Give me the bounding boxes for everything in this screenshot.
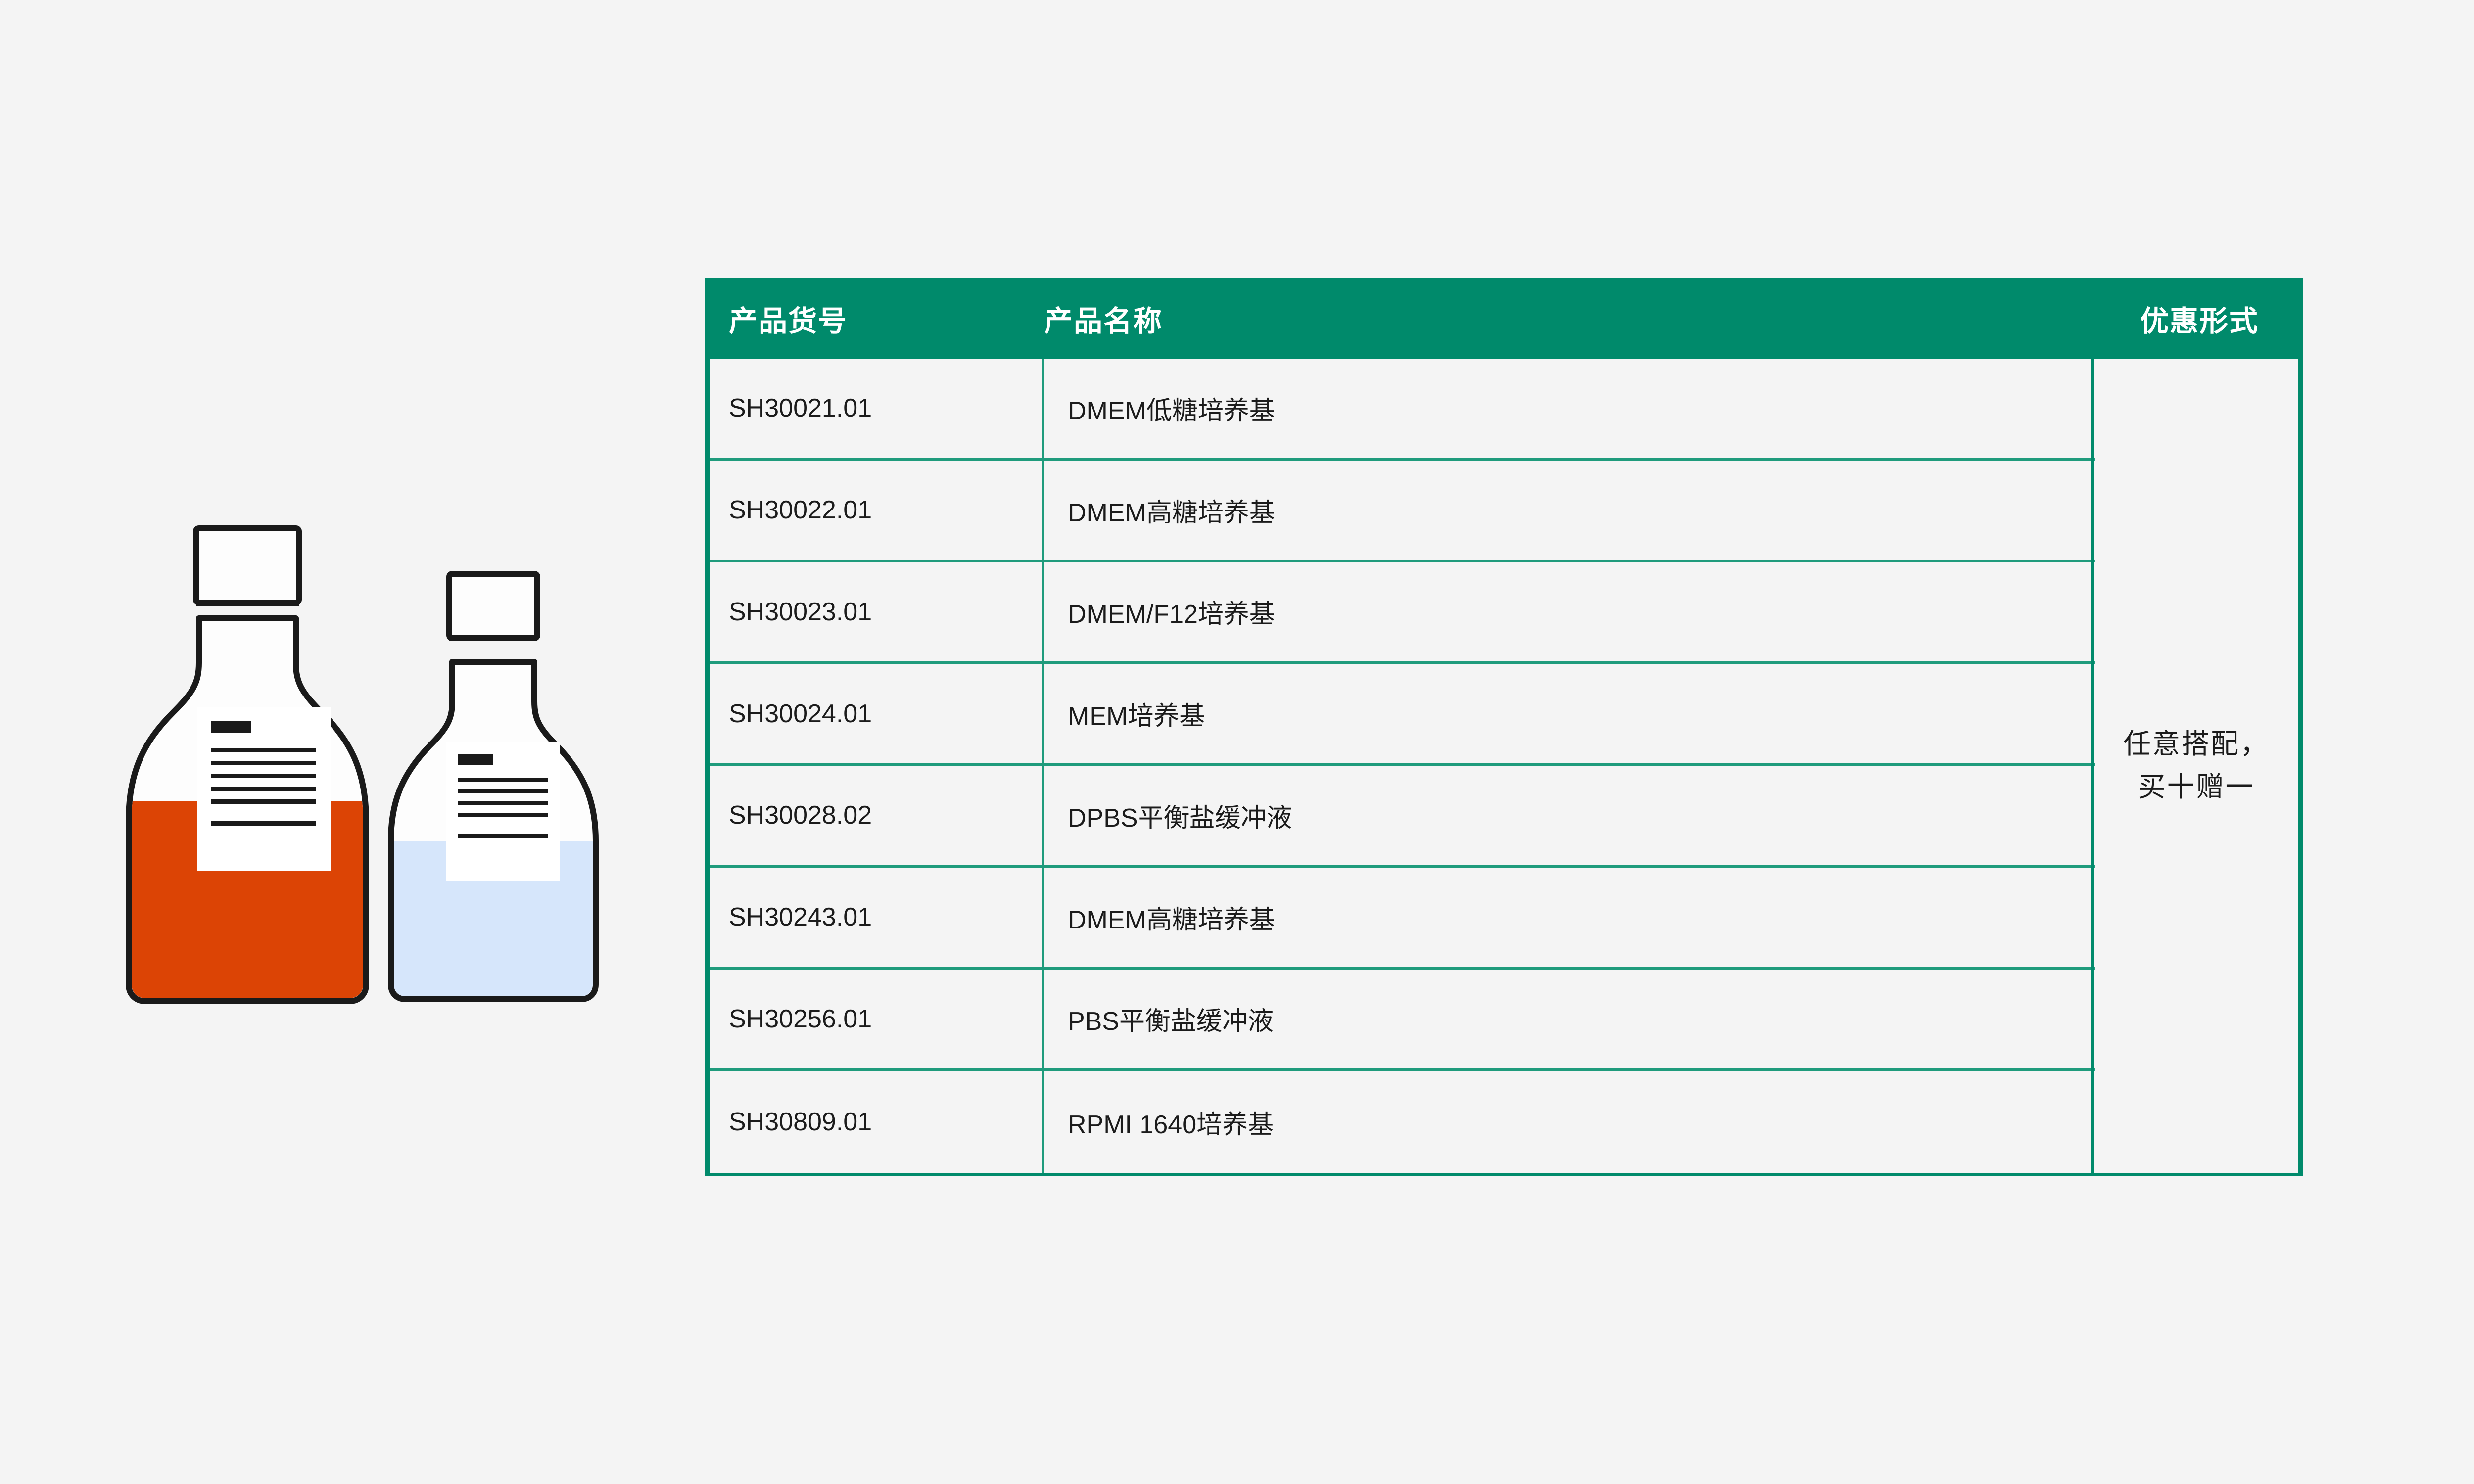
small-bottle-label-title-bar: [458, 754, 493, 765]
promotion-table: 产品货号 产品名称 优惠形式 SH30021.01 DMEM低糖培养基 SH30…: [705, 278, 2303, 1176]
bottles-svg: [114, 495, 618, 1019]
table-row: SH30809.01 RPMI 1640培养基: [710, 1071, 2095, 1173]
promo-line-2: 买十赠一: [2138, 766, 2255, 809]
large-bottle-cap: [196, 528, 299, 603]
column-header-product-name: 产品名称: [1044, 298, 2095, 339]
small-bottle: [389, 574, 599, 1009]
cell-product-code: SH30024.01: [710, 664, 1044, 763]
column-header-promo-type: 优惠形式: [2095, 298, 2303, 339]
promo-merged-cell: 任意搭配， 买十赠一: [2091, 359, 2298, 1173]
cell-product-code: SH30256.01: [710, 970, 1044, 1069]
cell-product-name: PBS平衡盐缓冲液: [1044, 970, 2095, 1069]
cell-product-name: DMEM低糖培养基: [1044, 359, 2095, 458]
page-canvas: 产品货号 产品名称 优惠形式 SH30021.01 DMEM低糖培养基 SH30…: [0, 0, 2474, 1484]
cell-product-name: MEM培养基: [1044, 664, 2095, 763]
cell-product-code: SH30022.01: [710, 461, 1044, 560]
promo-line-1: 任意搭配，: [2123, 723, 2269, 766]
column-header-product-code: 产品货号: [729, 298, 1044, 339]
table-row: SH30022.01 DMEM高糖培养基: [710, 461, 2095, 562]
table-row: SH30023.01 DMEM/F12培养基: [710, 562, 2095, 664]
culture-media-bottles-illustration: [114, 495, 618, 1019]
cell-product-code: SH30021.01: [710, 359, 1044, 458]
cell-product-name: DMEM高糖培养基: [1044, 868, 2095, 967]
table-row: SH30028.02 DPBS平衡盐缓冲液: [710, 766, 2095, 868]
table-header-row: 产品货号 产品名称 优惠形式: [705, 278, 2303, 359]
table-row: SH30243.01 DMEM高糖培养基: [710, 868, 2095, 970]
large-bottle-cap-band: [196, 600, 299, 606]
cell-product-name: DMEM高糖培养基: [1044, 461, 2095, 560]
table-row: SH30256.01 PBS平衡盐缓冲液: [710, 970, 2095, 1071]
cell-product-name: RPMI 1640培养基: [1044, 1071, 2095, 1173]
cell-product-code: SH30023.01: [710, 562, 1044, 662]
product-grid: SH30021.01 DMEM低糖培养基 SH30022.01 DMEM高糖培养…: [710, 359, 2095, 1173]
table-row: SH30024.01 MEM培养基: [710, 664, 2095, 766]
small-bottle-cap-band: [449, 635, 537, 641]
large-bottle: [129, 528, 371, 1009]
table-body: SH30021.01 DMEM低糖培养基 SH30022.01 DMEM高糖培养…: [705, 359, 2303, 1176]
small-bottle-cap: [449, 574, 537, 638]
large-bottle-label-title-bar: [211, 721, 251, 733]
cell-product-name: DMEM/F12培养基: [1044, 562, 2095, 662]
table-row: SH30021.01 DMEM低糖培养基: [710, 359, 2095, 461]
cell-product-code: SH30243.01: [710, 868, 1044, 967]
cell-product-code: SH30809.01: [710, 1071, 1044, 1173]
cell-product-name: DPBS平衡盐缓冲液: [1044, 766, 2095, 865]
cell-product-code: SH30028.02: [710, 766, 1044, 865]
